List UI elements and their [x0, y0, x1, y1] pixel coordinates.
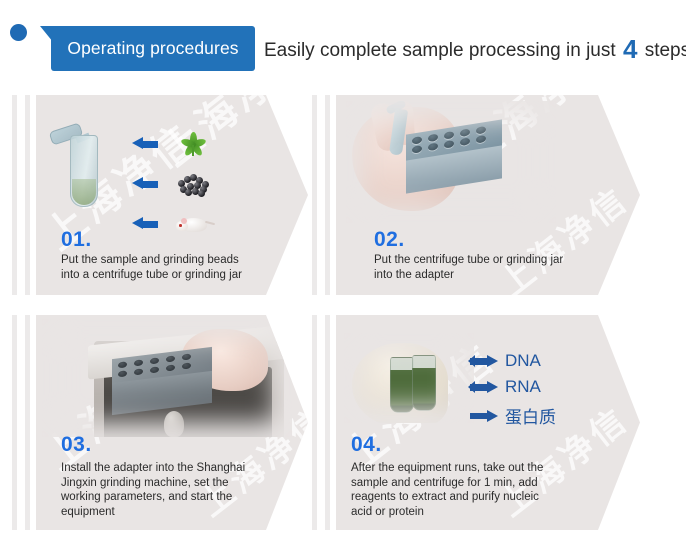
card-bar-2 [25, 95, 30, 295]
output-label-text: DNA [505, 351, 541, 371]
card-bar-1 [12, 315, 17, 530]
step-number: 03. [61, 433, 92, 457]
step-card-02-body: 上海净信 上海净信 02. Put the centrifuge tube or… [336, 95, 640, 295]
output-label-rna: RNA [470, 377, 541, 397]
card-bar-2 [325, 95, 330, 295]
step-caption: Install the adapter into the Shanghai Ji… [61, 461, 299, 519]
adapter-photo [346, 101, 556, 223]
left-arrow-icon [132, 177, 158, 190]
leaf-icon [178, 128, 208, 156]
page-title: Easily complete sample processing in jus… [264, 27, 686, 73]
step-card-03-body: 上海净信 上海净信 03. Install the [36, 315, 308, 530]
right-arrow-icon [470, 381, 498, 393]
badge-label: Operating procedures [51, 26, 255, 71]
step-card-01-body: 上海净信 上海净信 01. Put the [36, 95, 308, 295]
tagline-step-count: 4 [621, 34, 639, 64]
step-caption: After the equipment runs, take out the s… [351, 461, 597, 519]
tagline-after: steps: [645, 40, 686, 61]
card-bar-2 [325, 315, 330, 530]
gloved-hand-photo [344, 333, 474, 423]
card-left-bars [10, 95, 36, 295]
photo-vignette [42, 319, 292, 437]
tube-liquid-icon [72, 179, 96, 205]
card-bar-2 [25, 315, 30, 530]
left-arrow-icon [132, 137, 158, 150]
card-bar-1 [312, 315, 317, 530]
watermark: 上海净信 [147, 95, 308, 177]
operating-procedures-badge: Operating procedures [25, 26, 255, 71]
grinding-machine-photo [42, 319, 292, 437]
step-card-04-body: 上海净信 上海净信 DNA RNA 蛋白质 04. After the equi… [336, 315, 640, 530]
card-left-bars [310, 95, 336, 295]
step-card-03[interactable]: 上海净信 上海净信 03. Install the [10, 315, 308, 530]
left-arrow-icon [132, 217, 158, 230]
step-number: 02. [374, 228, 405, 252]
page-header: Operating procedures Easily complete sam… [0, 0, 686, 82]
photo-vignette [344, 333, 474, 423]
mouse-icon [176, 213, 210, 235]
output-label-dna: DNA [470, 351, 541, 371]
card-left-bars [10, 315, 36, 530]
grinding-beads-icon [176, 172, 210, 194]
step-card-04[interactable]: 上海净信 上海净信 DNA RNA 蛋白质 04. After the equi… [310, 315, 640, 530]
card-bar-1 [12, 95, 17, 295]
step-card-02[interactable]: 上海净信 上海净信 02. Put the centrifuge tube or… [310, 95, 640, 295]
step-number: 04. [351, 433, 382, 457]
output-label-text: 蛋白质 [505, 403, 556, 428]
step-caption: Put the centrifuge tube or grinding jar … [374, 253, 610, 282]
card-left-bars [310, 315, 336, 530]
step-card-01[interactable]: 上海净信 上海净信 01. Put the [10, 95, 308, 295]
right-arrow-icon [470, 355, 498, 367]
tagline-before: Easily complete sample processing in jus… [264, 40, 616, 61]
right-arrow-icon [470, 410, 498, 422]
step-number: 01. [61, 228, 92, 252]
tube-body-icon [70, 135, 98, 207]
output-label-text: RNA [505, 377, 541, 397]
centrifuge-tube-icon [70, 127, 96, 205]
output-label-protein: 蛋白质 [470, 403, 556, 428]
card-bar-1 [312, 95, 317, 295]
step-caption: Put the sample and grinding beads into a… [61, 253, 291, 282]
photo-vignette [346, 101, 556, 223]
